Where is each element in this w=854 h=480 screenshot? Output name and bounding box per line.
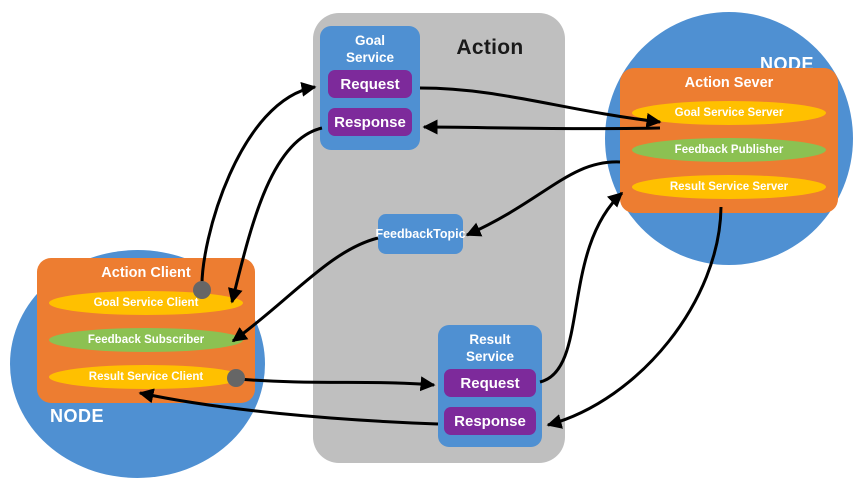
result-service-title: Result Service <box>438 331 542 365</box>
action-container-title: Action <box>425 36 555 60</box>
goal-response-chip[interactable]: Response <box>328 108 412 136</box>
result-request-chip[interactable]: Request <box>444 369 536 397</box>
diagram-canvas: Action NODE Action Sever Goal Service Se… <box>0 0 854 480</box>
result-service-title-line1: Result <box>469 332 510 347</box>
client-node-label: NODE <box>50 406 104 427</box>
result-response-chip[interactable]: Response <box>444 407 536 435</box>
goal-service-panel: Goal Service Request Response <box>320 26 420 150</box>
feedback-topic-node[interactable]: Feedback Topic <box>378 214 463 254</box>
result-service-title-line2: Service <box>466 349 514 364</box>
result-service-server-interface[interactable]: Result Service Server <box>632 175 826 199</box>
goal-request-chip[interactable]: Request <box>328 70 412 98</box>
feedback-subscriber-interface[interactable]: Feedback Subscriber <box>49 328 243 352</box>
result-service-client-interface[interactable]: Result Service Client <box>49 365 243 389</box>
feedback-topic-line1: Feedback <box>375 227 433 242</box>
feedback-topic-line2: Topic <box>433 227 465 242</box>
feedback-publisher-interface[interactable]: Feedback Publisher <box>632 138 826 162</box>
goal-service-title-line1: Goal <box>355 33 385 48</box>
goal-service-client-interface[interactable]: Goal Service Client <box>49 291 243 315</box>
goal-service-title: Goal Service <box>320 32 420 66</box>
goal-service-server-interface[interactable]: Goal Service Server <box>632 101 826 125</box>
action-server-box: Action Sever Goal Service Server Feedbac… <box>620 68 838 213</box>
action-server-title: Action Sever <box>620 75 838 91</box>
action-client-title: Action Client <box>37 265 255 281</box>
goal-service-title-line2: Service <box>346 50 394 65</box>
action-client-box: Action Client Goal Service Client Feedba… <box>37 258 255 403</box>
result-service-panel: Result Service Request Response <box>438 325 542 447</box>
